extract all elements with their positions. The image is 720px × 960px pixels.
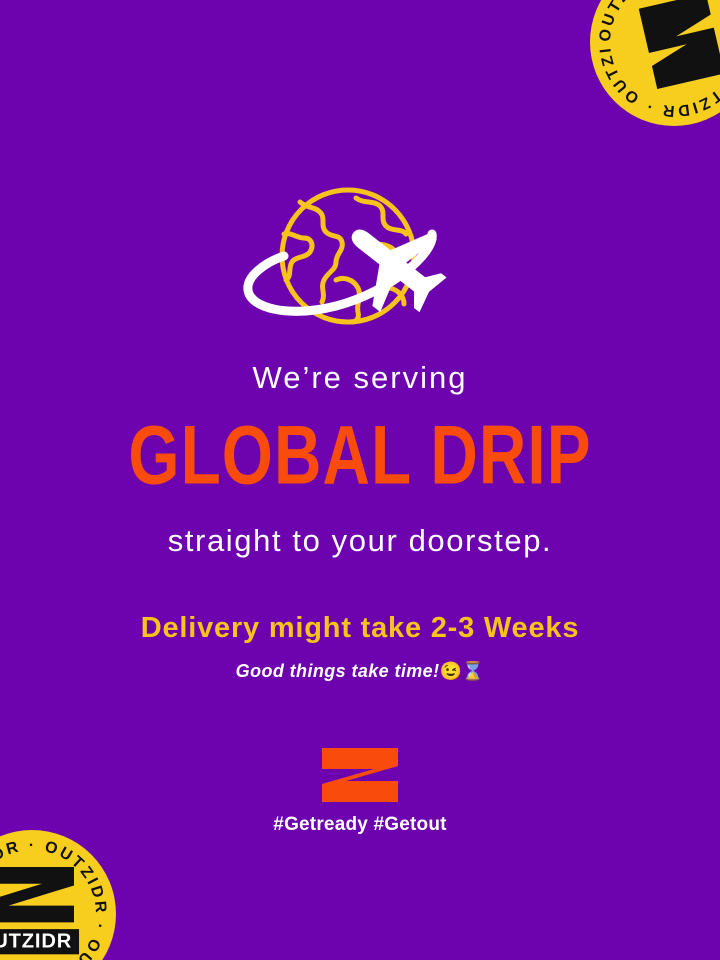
wink-hourglass-emoji: 😉⌛ [439, 661, 484, 681]
promo-poster: OUTZIDR · OUTZIDR · OUTZIDR · OUTZIDR · [0, 0, 720, 960]
seal-wordmark-bottom-left: OUTZIDR [0, 929, 79, 954]
good-things-note: Good things take time!😉⌛ [0, 662, 720, 680]
footer-brand-block: #Getready #Getout [0, 746, 720, 836]
globe-with-airplane-icon [240, 176, 480, 342]
headline-global-drip: GLOBAL DRIP [0, 415, 720, 498]
outzidr-seal-top-right: OUTZIDR · OUTZIDR · OUTZIDR · OUTZIDR · [590, 0, 720, 126]
line-serving: We’re serving [0, 362, 720, 393]
seal-z-mark-bottom-left [0, 867, 74, 922]
headline-copy-block: We’re serving GLOBAL DRIP straight to yo… [0, 362, 720, 680]
airplane-icon [325, 196, 461, 331]
outzidr-z-mark [320, 746, 400, 804]
seal-wordmark-text: OUTZIDR [0, 931, 72, 953]
good-things-text: Good things take time! [236, 661, 440, 681]
delivery-estimate: Delivery might take 2-3 Weeks [0, 614, 720, 643]
line-doorstep: straight to your doorstep. [0, 525, 720, 556]
outzidr-seal-bottom-left: OUTZIDR · OUTZIDR · OUTZIDR · OUTZIDR · … [0, 830, 116, 960]
seal-z-mark-top-right [639, 0, 720, 89]
